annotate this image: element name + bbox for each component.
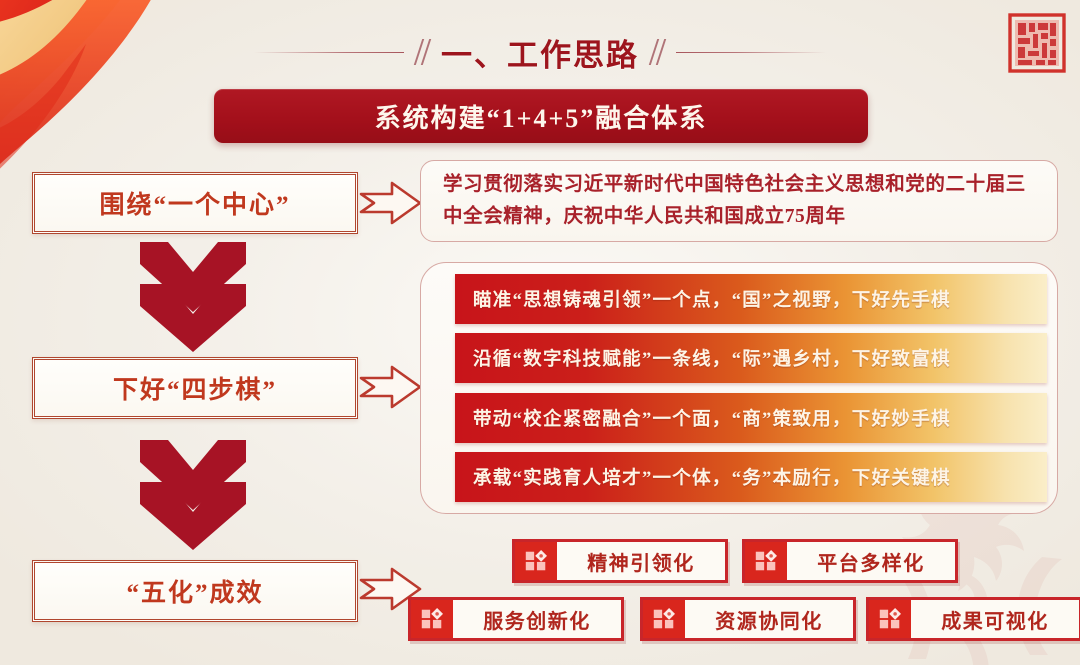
outcome-chip-label: 资源协同化 (715, 605, 823, 634)
step-bar[interactable]: 沿循“数字科技赋能”一条线，“际”遇乡村，下好致富棋 (455, 333, 1047, 383)
outcome-chip-label-wrap: 精神引领化 (557, 542, 725, 580)
outcome-chip-label-wrap: 服务创新化 (453, 600, 621, 638)
step-bar-label: 瞄准“思想铸魂引领”一个点，“国”之视野，下好先手棋 (473, 286, 951, 312)
double-slash-divider-icon-right (653, 39, 662, 65)
outcome-chip-label: 平台多样化 (817, 547, 925, 576)
stage-box-one-center[interactable]: 围绕“一个中心” (32, 172, 358, 234)
page-title: 一、工作思路 (441, 30, 639, 75)
page-title-bar: 一、工作思路 (0, 30, 1080, 74)
stage-box-label: 下好“四步棋” (113, 370, 277, 406)
outcome-chip-label: 精神引领化 (587, 547, 695, 576)
outcome-chip-label: 服务创新化 (483, 605, 591, 634)
title-rule-left (254, 52, 404, 53)
four-square-diamond-icon (515, 542, 557, 580)
outcome-chip[interactable]: 成果可视化 (866, 597, 1080, 641)
double-chevron-down-icon (132, 240, 254, 352)
outcome-chip[interactable]: 精神引领化 (512, 539, 728, 583)
guiding-ideology-note: 学习贯彻落实习近平新时代中国特色社会主义思想和党的二十届三中全会精神，庆祝中华人… (420, 160, 1058, 242)
stage-box-label: “五化”成效 (126, 573, 263, 609)
four-square-diamond-icon (869, 600, 911, 638)
step-bar[interactable]: 带动“校企紧密融合”一个面，“商”策致用，下好妙手棋 (455, 393, 1047, 443)
slide-canvas: 一、工作思路 系统构建“1+4+5”融合体系 围绕“一个中心” 下好“四步棋” … (0, 0, 1080, 665)
subtitle-banner-label: 系统构建“1+4+5”融合体系 (375, 98, 708, 135)
title-rule-right (676, 52, 826, 53)
subtitle-banner: 系统构建“1+4+5”融合体系 (214, 89, 868, 143)
outcome-chip-label-wrap: 成果可视化 (911, 600, 1079, 638)
outcome-chip[interactable]: 平台多样化 (742, 539, 958, 583)
four-square-diamond-icon (643, 600, 685, 638)
hollow-right-arrow-icon (358, 178, 424, 228)
hollow-right-arrow-icon (358, 362, 424, 412)
four-square-diamond-icon (745, 542, 787, 580)
four-steps-panel: 瞄准“思想铸魂引领”一个点，“国”之视野，下好先手棋 沿循“数字科技赋能”一条线… (420, 262, 1058, 514)
step-bar[interactable]: 瞄准“思想铸魂引领”一个点，“国”之视野，下好先手棋 (455, 274, 1047, 324)
outcome-chip-label: 成果可视化 (941, 605, 1049, 634)
step-bar-label: 承载“实践育人培才”一个体，“务”本励行，下好关键棋 (473, 464, 951, 490)
outcome-chip[interactable]: 服务创新化 (408, 597, 624, 641)
double-chevron-down-icon (132, 438, 254, 550)
step-bar-label: 带动“校企紧密融合”一个面，“商”策致用，下好妙手棋 (473, 405, 951, 431)
outcome-chip-label-wrap: 平台多样化 (787, 542, 955, 580)
guiding-ideology-text: 学习贯彻落实习近平新时代中国特色社会主义思想和党的二十届三中全会精神，庆祝中华人… (443, 169, 1035, 232)
stage-box-four-steps[interactable]: 下好“四步棋” (32, 357, 358, 419)
step-bar-label: 沿循“数字科技赋能”一条线，“际”遇乡村，下好致富棋 (473, 345, 951, 371)
outcome-chip-label-wrap: 资源协同化 (685, 600, 853, 638)
four-square-diamond-icon (411, 600, 453, 638)
stage-box-five-outcomes[interactable]: “五化”成效 (32, 560, 358, 622)
stage-box-label: 围绕“一个中心” (99, 185, 290, 221)
outcome-chip[interactable]: 资源协同化 (640, 597, 856, 641)
double-slash-divider-icon (418, 39, 427, 65)
step-bar[interactable]: 承载“实践育人培才”一个体，“务”本励行，下好关键棋 (455, 452, 1047, 502)
